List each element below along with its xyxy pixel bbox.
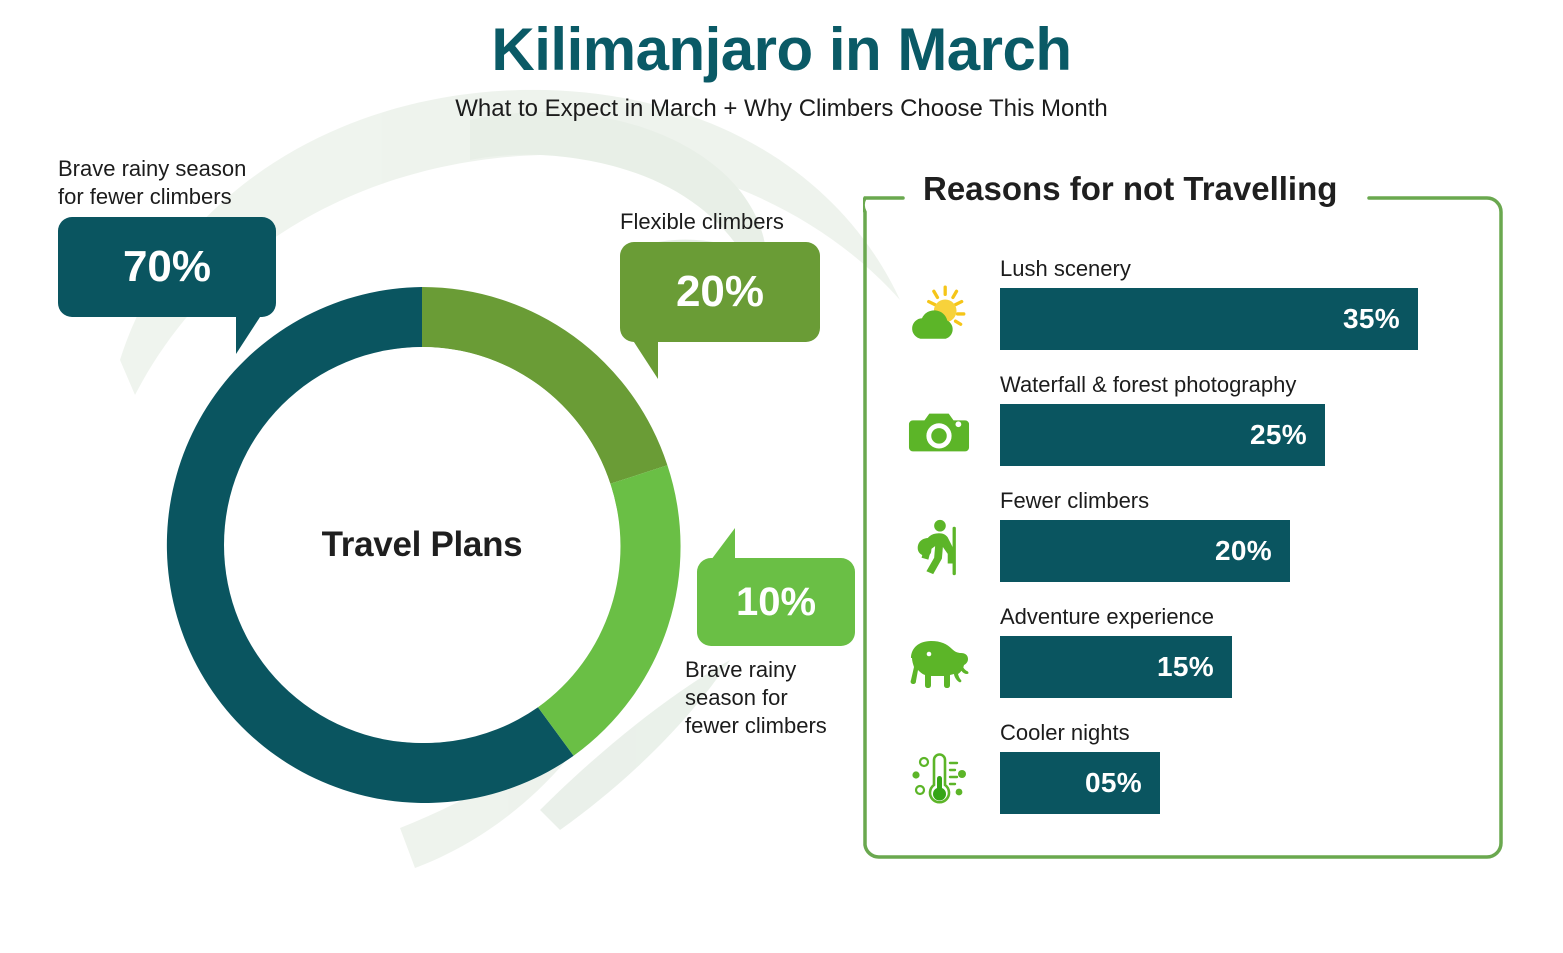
reason-value: 05%: [1085, 767, 1160, 799]
reason-row-lush-scenery[interactable]: Lush scenery 35%: [893, 256, 1493, 372]
header: Kilimanjaro in March What to Expect in M…: [0, 18, 1563, 123]
callout-20-value: 20%: [676, 267, 764, 317]
reason-label: Lush scenery: [1000, 256, 1131, 282]
sun-cloud-icon: [903, 280, 975, 352]
reason-bar[interactable]: 25%: [1000, 404, 1325, 466]
callout-brave-rainy-70[interactable]: Brave rainy season for fewer climbers 70…: [58, 155, 358, 317]
reason-row-fewer-climbers[interactable]: Fewer climbers 20%: [893, 488, 1493, 604]
reason-label: Cooler nights: [1000, 720, 1130, 746]
reason-bar[interactable]: 35%: [1000, 288, 1418, 350]
callout-10-value: 10%: [736, 580, 816, 625]
callout-70-bubble[interactable]: 70%: [58, 217, 276, 317]
reason-label: Fewer climbers: [1000, 488, 1149, 514]
callout-70-caption: Brave rainy season for fewer climbers: [58, 155, 358, 211]
reason-row-cooler-nights[interactable]: Cooler nights 05%: [893, 720, 1493, 836]
elephant-icon: [903, 628, 975, 700]
thermometer-icon: [903, 744, 975, 816]
donut-hole: [224, 347, 620, 743]
camera-icon: [903, 396, 975, 468]
callout-brave-rainy-10[interactable]: 10% Brave rainy season for fewer climber…: [683, 558, 913, 740]
reason-bar[interactable]: 15%: [1000, 636, 1232, 698]
callout-20-caption: Flexible climbers: [620, 208, 880, 236]
reason-row-waterfall-photography[interactable]: Waterfall & forest photography 25%: [893, 372, 1493, 488]
reason-label: Waterfall & forest photography: [1000, 372, 1296, 398]
callout-10-tail: [711, 528, 735, 560]
callout-flexible-climbers-20[interactable]: Flexible climbers 20%: [620, 208, 880, 342]
page-title: Kilimanjaro in March: [0, 18, 1563, 83]
travel-plans-donut-chart: Travel Plans: [160, 283, 684, 807]
reason-bar[interactable]: 20%: [1000, 520, 1290, 582]
reasons-rows: Lush scenery 35% Waterfall & forest phot…: [893, 256, 1493, 836]
reason-value: 35%: [1343, 303, 1418, 335]
reason-bar[interactable]: 05%: [1000, 752, 1160, 814]
page-subtitle: What to Expect in March + Why Climbers C…: [0, 95, 1563, 123]
callout-10-caption: Brave rainy season for fewer climbers: [685, 656, 913, 740]
callout-10-bubble[interactable]: 10%: [697, 558, 855, 646]
infographic-canvas: Kilimanjaro in March What to Expect in M…: [0, 0, 1563, 953]
callout-70-tail: [236, 314, 262, 354]
reason-row-adventure-experience[interactable]: Adventure experience 15%: [893, 604, 1493, 720]
donut-svg: [160, 283, 684, 807]
reason-label: Adventure experience: [1000, 604, 1214, 630]
reasons-panel: Reasons for not Travelling: [863, 196, 1503, 859]
reason-value: 15%: [1157, 651, 1232, 683]
callout-20-bubble[interactable]: 20%: [620, 242, 820, 342]
hiker-icon: [903, 512, 975, 584]
callout-70-value: 70%: [123, 242, 211, 292]
reason-value: 20%: [1215, 535, 1290, 567]
callout-20-tail: [632, 339, 658, 379]
reason-value: 25%: [1250, 419, 1325, 451]
panel-title: Reasons for not Travelling: [911, 170, 1349, 208]
